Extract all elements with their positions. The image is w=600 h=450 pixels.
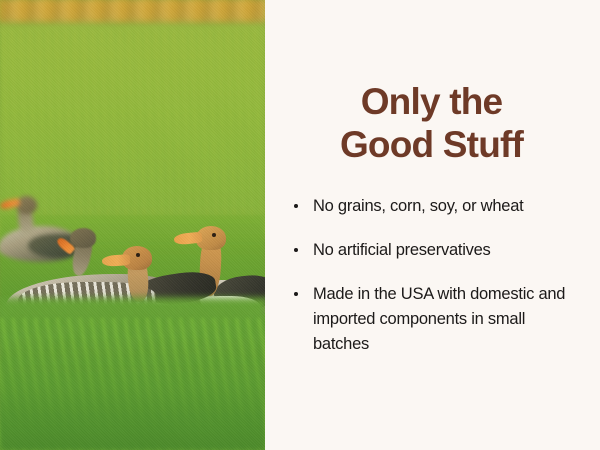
bullet-icon bbox=[294, 248, 298, 252]
page-title-line-1: Only the bbox=[287, 80, 576, 123]
page-title: Only the Good Stuff bbox=[287, 0, 576, 166]
list-item-label: No artificial preservatives bbox=[313, 241, 491, 259]
photo-grass-near-blades bbox=[0, 296, 265, 450]
geese-photo bbox=[0, 0, 265, 450]
goose-mid-head bbox=[70, 228, 96, 248]
benefits-text-panel: Only the Good Stuff No grains, corn, soy… bbox=[265, 0, 600, 450]
goose-main-bill bbox=[102, 254, 131, 267]
page-title-line-2: Good Stuff bbox=[287, 123, 576, 166]
bullet-icon bbox=[294, 292, 298, 296]
benefits-list: No grains, corn, soy, or wheat No artifi… bbox=[287, 166, 576, 357]
list-item: No grains, corn, soy, or wheat bbox=[293, 194, 576, 219]
goose-right-eye bbox=[212, 233, 216, 237]
list-item-label: No grains, corn, soy, or wheat bbox=[313, 197, 523, 215]
list-item: Made in the USA with domestic and import… bbox=[293, 282, 576, 357]
list-item-label: Made in the USA with domestic and import… bbox=[313, 285, 565, 353]
photo-sky-streaks bbox=[0, 0, 265, 22]
bullet-icon bbox=[294, 204, 298, 208]
goose-main-eye bbox=[136, 253, 140, 257]
list-item: No artificial preservatives bbox=[293, 238, 576, 263]
product-benefits-card: Only the Good Stuff No grains, corn, soy… bbox=[0, 0, 600, 450]
